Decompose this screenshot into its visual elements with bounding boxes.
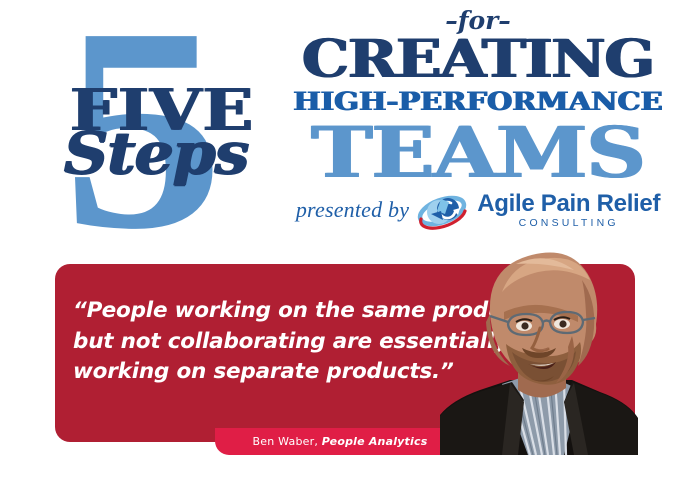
infographic-header: 5 FIVE Steps –for– CREATING HIGH-PERFORM… (0, 0, 688, 250)
quote-text: “People working on the same product but … (73, 296, 473, 388)
headline-teams: TEAMS (230, 120, 688, 187)
quote-attribution-tab: Ben Waber, People Analytics (215, 428, 465, 455)
headline-block: –for– CREATING HIGH-PERFORMANCE TEAMS (268, 8, 688, 187)
globe-swoosh-icon (417, 190, 469, 230)
quote-line-3: working on separate products.” (73, 357, 473, 388)
logo-subtitle: CONSULTING (519, 218, 619, 229)
logo-name: Agile Pain Relief (477, 192, 660, 216)
attribution-work: People Analytics (322, 435, 428, 448)
attribution-name: Ben Waber, (253, 435, 318, 448)
logo-text: Agile Pain Relief CONSULTING (477, 192, 660, 229)
steps-word: Steps (64, 124, 248, 182)
presented-by-row: presented by Agile Pain Reli (268, 190, 688, 230)
quote-line-2: but not collaborating are essentially (73, 327, 473, 358)
headline-creating: CREATING (239, 35, 688, 84)
presented-by-label: presented by (296, 197, 409, 223)
ben-waber-portrait (432, 240, 652, 455)
quote-line-1: “People working on the same product (73, 296, 473, 327)
quote-attribution-text: Ben Waber, People Analytics (253, 435, 428, 448)
